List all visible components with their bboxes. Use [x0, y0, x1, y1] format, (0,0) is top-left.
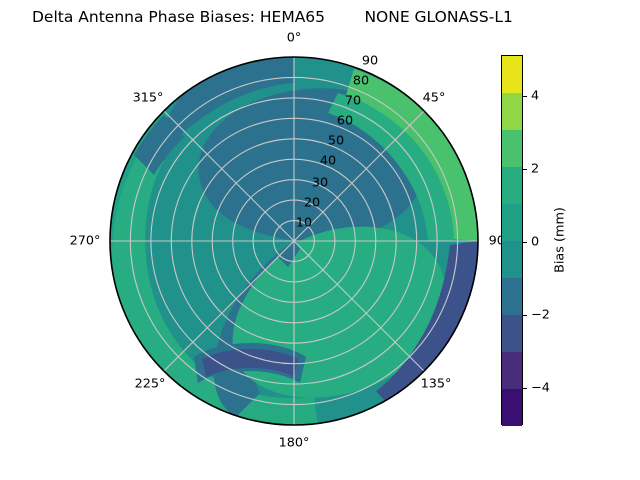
colorbar-band-9 [502, 389, 522, 426]
colorbar-band-3 [502, 167, 522, 204]
colorbar-tick-label-1: 2 [531, 162, 539, 177]
radial-tick-90: 90 [362, 54, 378, 69]
colorbar-band-1 [502, 93, 522, 130]
polar-grid [110, 57, 478, 425]
colorbar-band-7 [502, 315, 522, 352]
colorbar-tick-mark-1 [523, 169, 527, 170]
angular-tick-225: 225° [135, 377, 166, 392]
colorbar-tick-label-4: −4 [531, 381, 550, 396]
radial-tick-70: 70 [345, 94, 361, 109]
figure-canvas: Delta Antenna Phase Biases: HEMA65 NONE … [0, 0, 640, 480]
polar-axes[interactable]: 0° 45° 90° 135° 180° 225° 270° 315° 10 2… [110, 57, 478, 425]
angular-tick-45: 45° [423, 91, 446, 106]
colorbar-tick-mark-2 [523, 242, 527, 243]
angular-tick-270: 270° [70, 234, 101, 249]
radial-tick-50: 50 [328, 134, 344, 149]
colorbar-band-8 [502, 352, 522, 389]
angular-tick-0: 0° [287, 31, 302, 46]
colorbar-tick-label-0: 4 [531, 89, 539, 104]
colorbar-gradient [501, 55, 523, 425]
colorbar-tick-mark-0 [523, 96, 527, 97]
colorbar[interactable]: 420−2−4 [501, 55, 523, 425]
radial-tick-10: 10 [296, 216, 312, 231]
colorbar-tick-label-2: 0 [531, 235, 539, 250]
angular-tick-315: 315° [133, 91, 164, 106]
radial-tick-80: 80 [353, 74, 369, 89]
radial-tick-20: 20 [304, 196, 320, 211]
polar-plot-svg [110, 57, 478, 425]
radial-tick-30: 30 [312, 176, 328, 191]
colorbar-band-4 [502, 204, 522, 241]
colorbar-tick-mark-3 [523, 315, 527, 316]
page-title: Delta Antenna Phase Biases: HEMA65 NONE … [0, 8, 640, 26]
angular-tick-135: 135° [421, 377, 452, 392]
radial-tick-60: 60 [337, 114, 353, 129]
colorbar-axis-label: Bias (mm) [553, 207, 568, 273]
colorbar-band-2 [502, 130, 522, 167]
colorbar-band-0 [502, 56, 522, 93]
colorbar-tick-label-3: −2 [531, 308, 550, 323]
radial-tick-40: 40 [320, 154, 336, 169]
angular-tick-180: 180° [279, 436, 310, 451]
colorbar-tick-mark-4 [523, 388, 527, 389]
colorbar-band-5 [502, 241, 522, 278]
colorbar-band-6 [502, 278, 522, 315]
